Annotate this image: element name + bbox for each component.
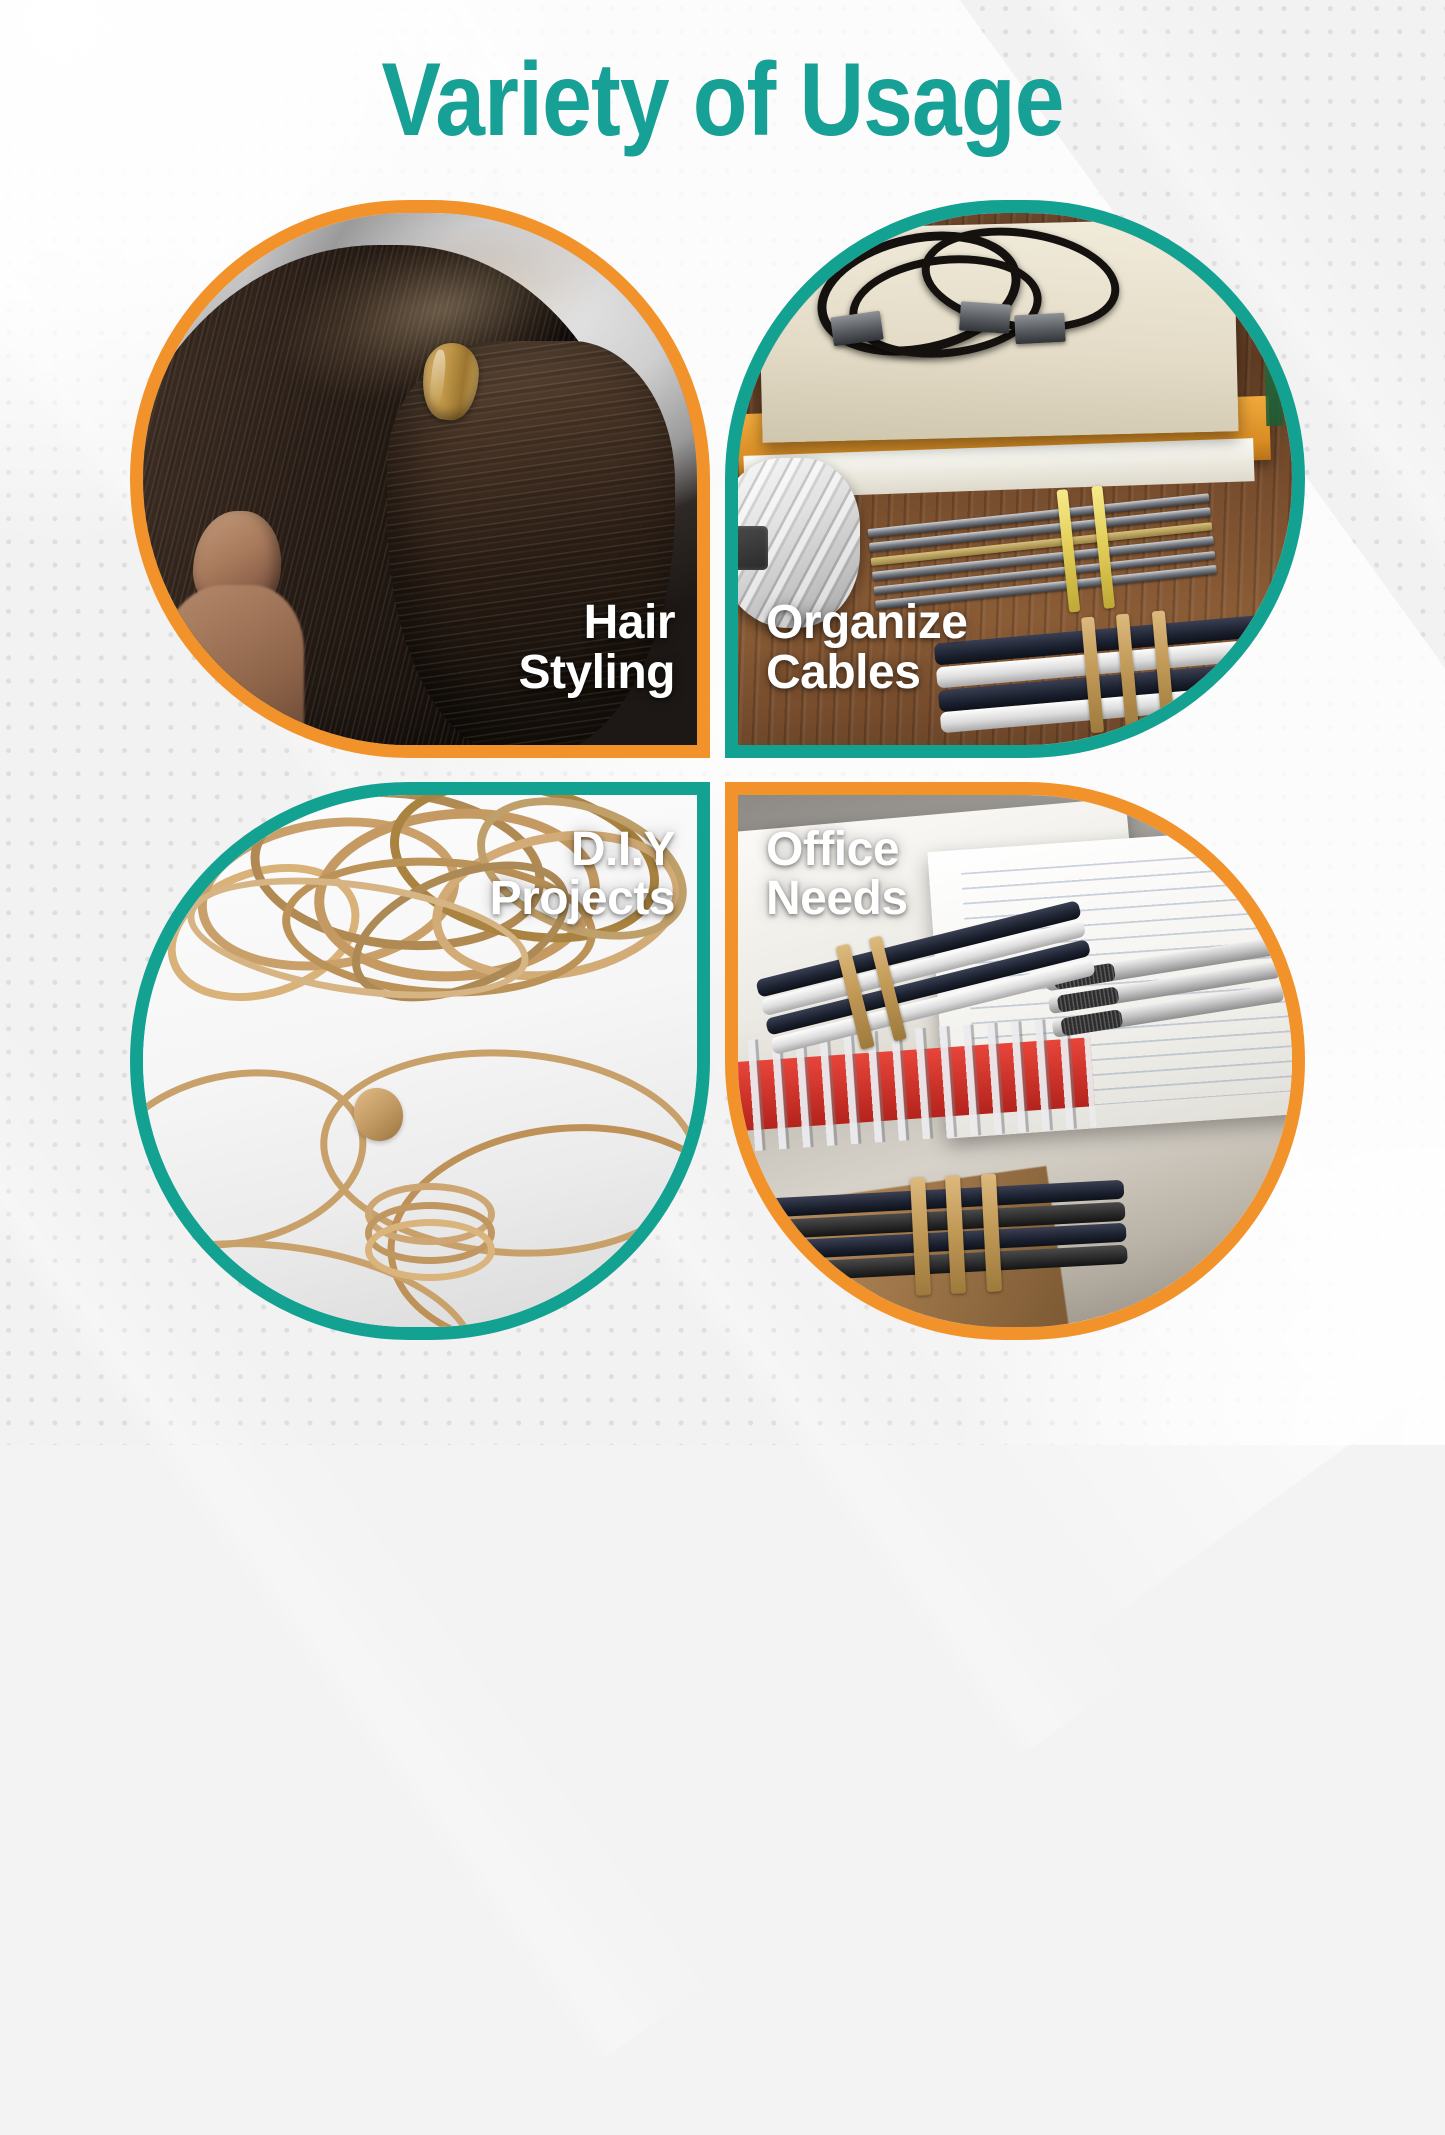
panel-hair-styling[interactable]: Hair Styling <box>130 200 710 758</box>
panel-label-hair-styling: Hair Styling <box>518 598 675 697</box>
panel-label-office-needs: Office Needs <box>766 825 908 924</box>
page-title: Variety of Usage <box>101 48 1344 152</box>
panel-organize-cables[interactable]: Organize Cables <box>725 200 1305 758</box>
panel-diy-projects[interactable]: D.I.Y Projects <box>130 782 710 1340</box>
usage-panel-grid: Hair Styling <box>130 200 1305 1340</box>
panel-label-organize-cables: Organize Cables <box>766 598 967 697</box>
panel-label-diy-projects: D.I.Y Projects <box>490 825 675 924</box>
rubber-band-coil <box>365 1183 481 1268</box>
panel-office-needs[interactable]: Office Needs <box>725 782 1305 1340</box>
